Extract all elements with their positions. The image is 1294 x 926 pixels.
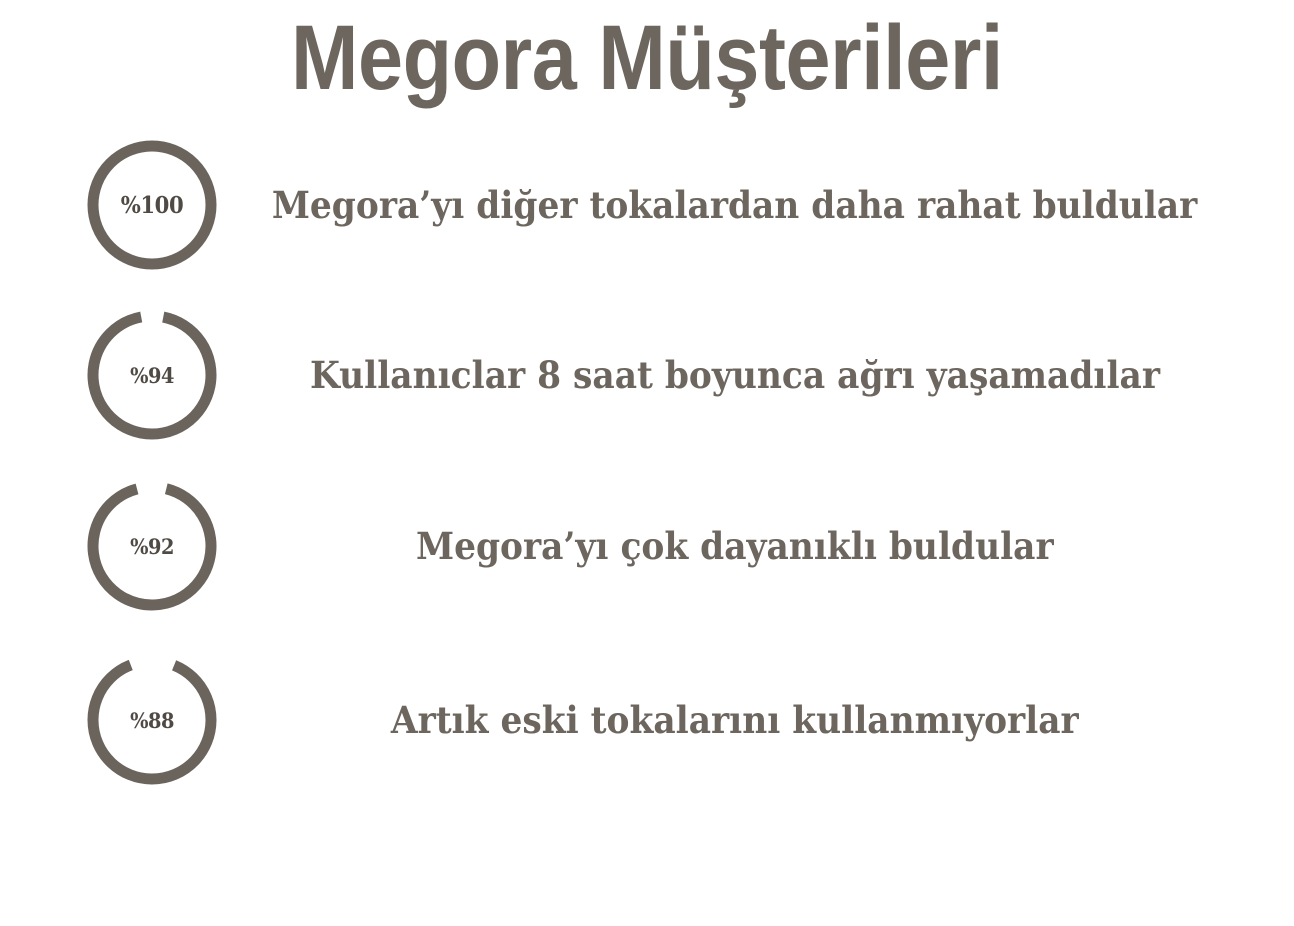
slide-canvas: Megora Müşterileri %100 Megora’yı diğer … (0, 0, 1294, 926)
stat-caption: Artık eski tokalarını kullanmıyorlar (391, 698, 1079, 742)
stat-row: %100 Megora’yı diğer tokalardan daha rah… (0, 135, 1294, 275)
ring-value-label: %100 (91, 139, 212, 271)
stat-row: %94 Kullanıclar 8 saat boyunca ağrı yaşa… (0, 305, 1294, 445)
stat-row: %92 Megora’yı çok dayanıklı buldular (0, 476, 1294, 616)
progress-ring-icon: %88 (86, 654, 218, 786)
stat-caption: Megora’yı çok dayanıklı buldular (416, 524, 1054, 568)
ring-value-label: %92 (91, 480, 212, 612)
caption-column: Megora’yı diğer tokalardan daha rahat bu… (224, 135, 1246, 275)
progress-ring-icon: %94 (86, 309, 218, 441)
progress-ring-icon: %100 (86, 139, 218, 271)
ring-value-label: %88 (91, 654, 212, 786)
caption-column: Kullanıclar 8 saat boyunca ağrı yaşamadı… (224, 305, 1246, 445)
page-title: Megora Müşterileri (78, 6, 1217, 110)
caption-column: Artık eski tokalarını kullanmıyorlar (224, 650, 1246, 790)
stat-caption: Kullanıclar 8 saat boyunca ağrı yaşamadı… (310, 353, 1160, 397)
ring-value-label: %94 (91, 309, 212, 441)
caption-column: Megora’yı çok dayanıklı buldular (224, 476, 1246, 616)
progress-ring-icon: %92 (86, 480, 218, 612)
stat-row: %88 Artık eski tokalarını kullanmıyorlar (0, 650, 1294, 790)
stat-caption: Megora’yı diğer tokalardan daha rahat bu… (272, 183, 1197, 227)
